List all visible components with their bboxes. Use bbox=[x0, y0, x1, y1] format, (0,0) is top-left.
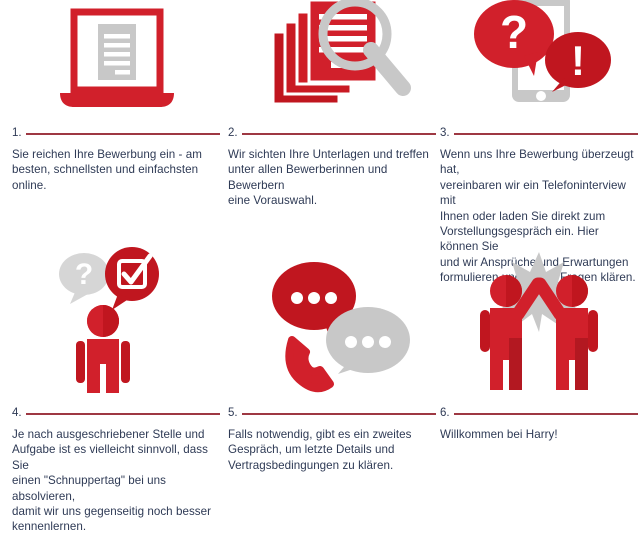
step-description: Willkommen bei Harry! bbox=[440, 427, 638, 442]
step-rule bbox=[242, 133, 436, 135]
person-question-checkbox-icon: ? bbox=[12, 248, 220, 400]
two-people-highfive-star-icon bbox=[440, 248, 638, 400]
step-rule bbox=[454, 413, 638, 415]
step-description: Je nach ausgeschriebener Stelle und Aufg… bbox=[12, 427, 220, 535]
step-rule bbox=[26, 413, 220, 415]
svg-text:?: ? bbox=[75, 258, 93, 291]
svg-text:!: ! bbox=[571, 37, 585, 84]
step-4: ? 4. Je nach ausg bbox=[12, 248, 220, 535]
step-rule bbox=[26, 133, 220, 135]
smartphone-question-exclamation-icon: ? ! bbox=[440, 0, 638, 120]
step-1-header: 1. bbox=[12, 126, 220, 142]
step-6: 6. Willkommen bei Harry! bbox=[440, 248, 638, 442]
step-description: Wir sichten Ihre Unterlagen und treffen … bbox=[228, 147, 436, 209]
step-1: 1. Sie reichen Ihre Bewerbung ein - am b… bbox=[12, 0, 220, 193]
step-number: 6. bbox=[440, 408, 450, 420]
step-number: 4. bbox=[12, 408, 22, 420]
step-number: 2. bbox=[228, 128, 238, 140]
step-number: 5. bbox=[228, 408, 238, 420]
step-5-header: 5. bbox=[228, 406, 436, 422]
laptop-document-icon bbox=[12, 0, 220, 120]
step-rule bbox=[242, 413, 436, 415]
step-2: 2. Wir sichten Ihre Unterlagen und treff… bbox=[228, 0, 436, 209]
step-3: ? ! 3. Wenn uns Ihre Bewerbung überzeugt… bbox=[440, 0, 638, 286]
speech-bubbles-phone-icon bbox=[228, 248, 436, 400]
step-rule bbox=[454, 133, 638, 135]
step-description: Sie reichen Ihre Bewerbung ein - am best… bbox=[12, 147, 220, 193]
step-4-header: 4. bbox=[12, 406, 220, 422]
step-5: 5. Falls notwendig, gibt es ein zweites … bbox=[228, 248, 436, 473]
step-number: 3. bbox=[440, 128, 450, 140]
step-description: Falls notwendig, gibt es ein zweites Ges… bbox=[228, 427, 436, 473]
step-6-header: 6. bbox=[440, 406, 638, 422]
step-3-header: 3. bbox=[440, 126, 638, 142]
application-process-infographic: 1. Sie reichen Ihre Bewerbung ein - am b… bbox=[0, 0, 640, 502]
documents-magnifier-icon bbox=[228, 0, 436, 120]
step-number: 1. bbox=[12, 128, 22, 140]
svg-text:?: ? bbox=[499, 6, 527, 58]
step-2-header: 2. bbox=[228, 126, 436, 142]
